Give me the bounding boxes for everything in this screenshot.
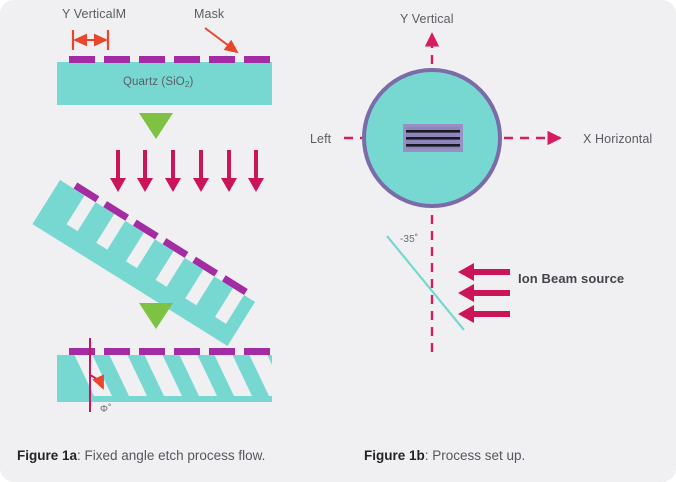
wafer-sample — [403, 124, 463, 152]
ion-beam-arrows — [458, 263, 510, 323]
mask-label: Mask — [194, 7, 224, 21]
pitch-dimension-marker — [73, 30, 108, 50]
mask-pointer-arrow — [205, 28, 237, 52]
panel-a-bottom-substrate — [57, 338, 272, 412]
ion-beam-source-label: Ion Beam source — [518, 271, 624, 286]
quartz-label-suffix: ) — [190, 76, 194, 88]
mask-stripes-bottom — [69, 348, 270, 355]
caption-1a-text: : Fixed angle etch process flow. — [77, 448, 265, 463]
mask-stripes-top — [69, 56, 270, 63]
etch-ion-arrows — [110, 150, 264, 192]
panel-a-top-substrate — [57, 28, 272, 105]
figure-container: Y VerticalM Mask Quartz (SiO2) Φ˚ Y Vert… — [0, 0, 676, 482]
tilt-angle-label: -35˚ — [400, 234, 418, 245]
green-flow-arrow-2 — [139, 303, 173, 329]
green-flow-arrow-1 — [139, 113, 173, 139]
phi-angle-label: Φ˚ — [100, 404, 112, 415]
tilt-angle-line — [387, 236, 464, 330]
y-vertical-label: Y Vertical — [400, 12, 454, 26]
caption-1b-bold: Figure 1b — [364, 448, 425, 463]
panel-b-wafer-setup — [344, 34, 560, 352]
x-horizontal-label: X Horizontal — [583, 132, 652, 146]
quartz-label-text: Quartz (SiO — [123, 76, 185, 88]
caption-1b-text: : Process set up. — [425, 448, 526, 463]
quartz-label: Quartz (SiO2) — [123, 76, 193, 89]
left-label: Left — [310, 132, 331, 146]
caption-figure-1b: Figure 1b: Process set up. — [364, 448, 525, 463]
caption-1a-bold: Figure 1a — [17, 448, 77, 463]
y-vertical-m-label: Y VerticalM — [62, 7, 126, 21]
caption-figure-1a: Figure 1a: Fixed angle etch process flow… — [17, 448, 265, 463]
tilted-etched-slab — [32, 174, 258, 346]
